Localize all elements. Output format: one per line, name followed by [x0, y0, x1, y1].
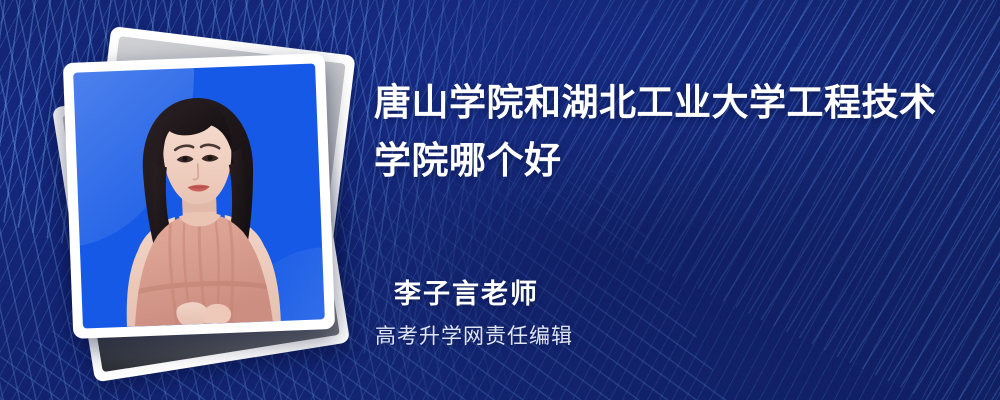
banner-image: 唐山学院和湖北工业大学工程技术学院哪个好 李子言老师 高考升学网责任编辑 — [0, 0, 1000, 400]
portrait-illustration — [73, 63, 325, 328]
portrait-photo — [73, 63, 325, 328]
text-column: 唐山学院和湖北工业大学工程技术学院哪个好 李子言老师 高考升学网责任编辑 — [374, 0, 974, 400]
photo-card-stack — [42, 34, 362, 364]
page-title: 唐山学院和湖北工业大学工程技术学院哪个好 — [374, 74, 966, 190]
author-name: 李子言老师 — [394, 272, 539, 311]
photo-card-front — [63, 53, 335, 339]
author-role: 高考升学网责任编辑 — [375, 320, 573, 350]
